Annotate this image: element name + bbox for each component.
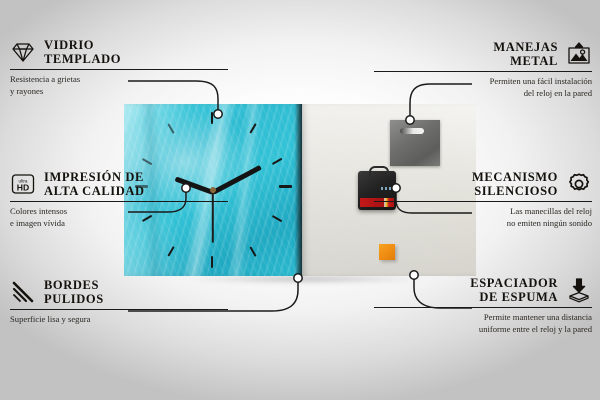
feature-divider [374,71,592,72]
feature-divider [10,69,228,70]
ultra-hd-icon: ultra HD [10,171,36,197]
feature-header: BORDES PULIDOS [10,278,228,306]
feature-title-line1: IMPRESIÓN DE [44,170,145,184]
foam-spacer-icon [566,277,592,303]
feature-manejas-metal: MANEJAS METAL Permiten una fácil instala… [374,40,592,100]
feature-impresion-alta-calidad: ultra HD IMPRESIÓN DE ALTA CALIDAD Color… [10,170,228,230]
feature-divider [374,201,592,202]
feature-description-line1: Las manecillas del reloj [374,206,592,218]
feature-description-line2: uniforme entre el reloj y la pared [374,324,592,336]
feature-title-line2: ALTA CALIDAD [44,184,145,198]
picture-hanger-icon [566,41,592,67]
feature-description-line2: del reloj en la pared [374,88,592,100]
feature-header: MECANISMO SILENCIOSO [374,170,592,198]
infographic-canvas: VIDRIO TEMPLADO Resistencia a grietas y … [0,0,600,400]
feature-espaciador-espuma: ESPACIADOR DE ESPUMA Permite mantener un… [374,276,592,336]
feature-description-line1: Superficie lisa y segura [10,314,228,326]
feature-bordes-pulidos: BORDES PULIDOS Superficie lisa y segura [10,278,228,326]
feature-vidrio-templado: VIDRIO TEMPLADO Resistencia a grietas y … [10,38,228,98]
feature-title-line2: METAL [493,54,558,68]
feature-title-line2: PULIDOS [44,292,104,306]
feature-description-line2: y rayones [10,86,228,98]
feature-description-line2: e imagen vívida [10,218,228,230]
feature-description-line1: Resistencia a grietas [10,74,228,86]
feature-header: ESPACIADOR DE ESPUMA [374,276,592,304]
feature-description-line2: no emiten ningún sonido [374,218,592,230]
feature-header: VIDRIO TEMPLADO [10,38,228,66]
feature-title-line1: MECANISMO [472,170,558,184]
feature-divider [10,309,228,310]
feature-divider [374,307,592,308]
feature-title-line2: SILENCIOSO [472,184,558,198]
glass-edge [295,104,302,276]
feature-title-line1: ESPACIADOR [470,276,558,290]
feature-title-line1: VIDRIO [44,38,121,52]
feature-title-line2: TEMPLADO [44,52,121,66]
feature-header: ultra HD IMPRESIÓN DE ALTA CALIDAD [10,170,228,198]
feature-divider [10,201,228,202]
feature-description-line1: Permiten una fácil instalación [374,76,592,88]
feature-title-line1: MANEJAS [493,40,558,54]
feature-mecanismo-silencioso: MECANISMO SILENCIOSO Las manecillas del … [374,170,592,230]
metal-hanger-plate [390,120,440,166]
diamond-icon [10,39,36,65]
feature-description-line1: Permite mantener una distancia [374,312,592,324]
feature-description-line1: Colores intensos [10,206,228,218]
foam-spacer-pad [379,244,395,260]
feature-title-line2: DE ESPUMA [470,290,558,304]
svg-text:HD: HD [17,182,29,192]
feature-title-line1: BORDES [44,278,104,292]
polished-edge-icon [10,279,36,305]
feature-header: MANEJAS METAL [374,40,592,68]
gear-icon [566,171,592,197]
hanger-slot [400,128,424,134]
